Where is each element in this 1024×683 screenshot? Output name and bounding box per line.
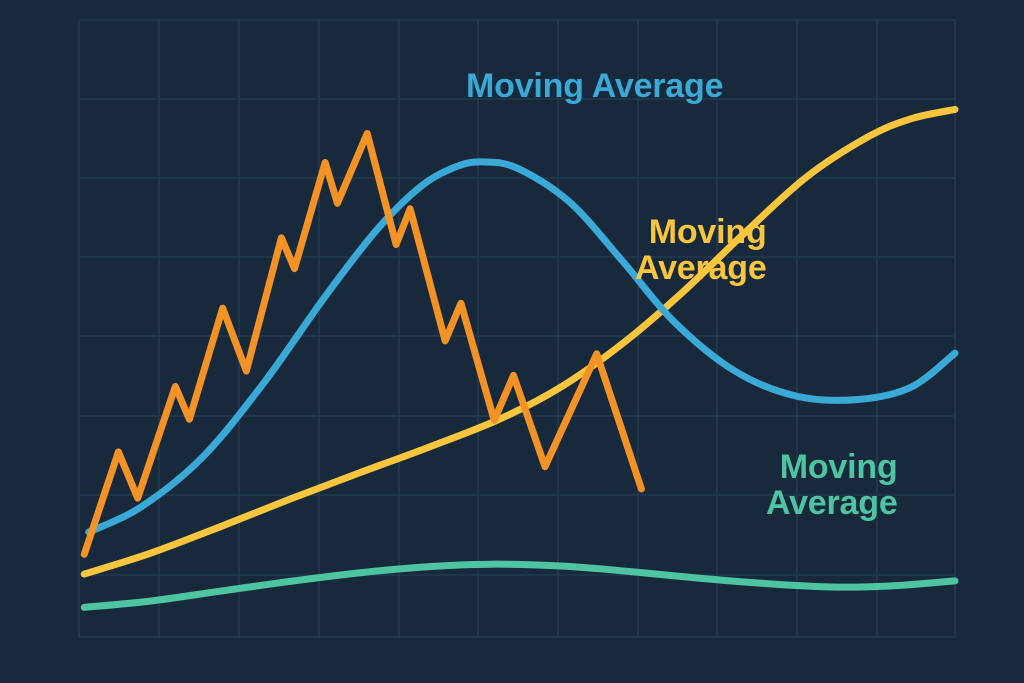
series-label-orange: Moving Average bbox=[635, 214, 767, 286]
series-label-blue: Moving Average bbox=[466, 68, 723, 104]
series-lines bbox=[84, 109, 955, 607]
grid-lines bbox=[79, 20, 955, 637]
series-label-teal: Moving Average bbox=[766, 449, 898, 521]
series-line bbox=[84, 564, 955, 607]
chart-canvas: Moving Average Moving Average Moving Ave… bbox=[0, 0, 1024, 683]
